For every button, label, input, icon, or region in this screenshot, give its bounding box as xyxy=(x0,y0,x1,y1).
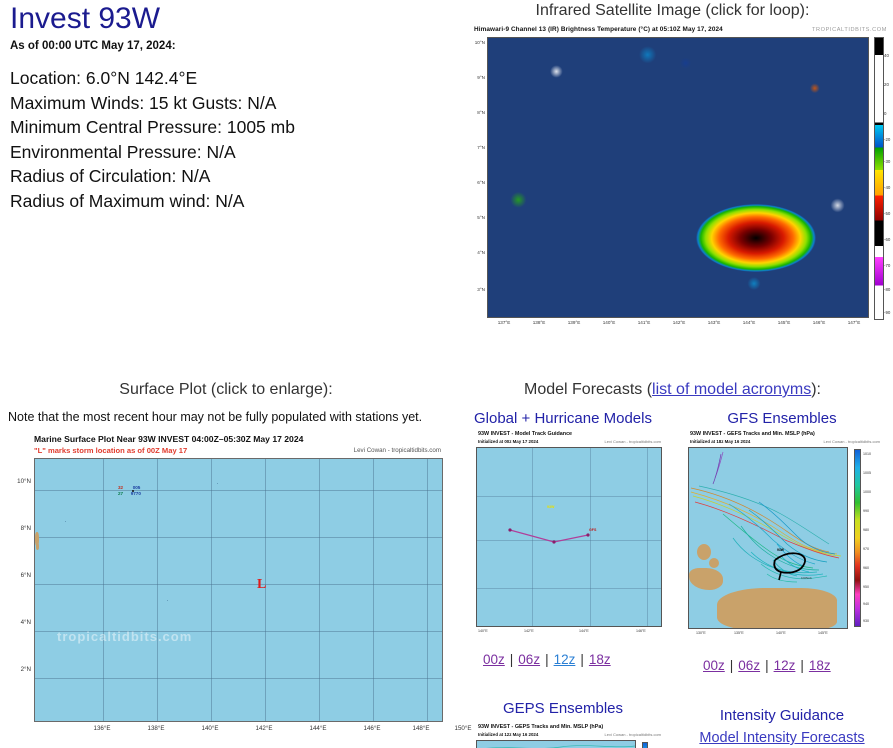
gridline-horizontal xyxy=(35,537,442,538)
track-model-label: 93W xyxy=(547,505,554,509)
colorbar-tick: -70 xyxy=(884,263,890,268)
gefs-colorbar-tick: 950 xyxy=(863,585,869,589)
geps-panel-title: 93W INVEST - GEPS Tracks and Min. MSLP (… xyxy=(478,724,603,730)
surface-y-tick: 8°N xyxy=(8,525,31,532)
gefs-colorbar-tick: 930 xyxy=(863,619,869,623)
gridline-vertical xyxy=(319,459,320,721)
model-acronyms-link[interactable]: list of model acronyms xyxy=(652,381,811,398)
geps-panel-subtitle: Initialized at 12z May 16 2024 xyxy=(478,732,538,737)
fact-env-pressure: Environmental Pressure: N/A xyxy=(10,140,440,165)
satellite-heading: Infrared Satellite Image (click for loop… xyxy=(452,2,893,20)
colorbar-tick: -30 xyxy=(884,159,890,164)
satellite-x-tick: 137°E xyxy=(498,320,511,325)
station-marker xyxy=(65,521,66,522)
gefs-x-tick: 135°E xyxy=(734,631,744,635)
gefs-x-tick: 130°E xyxy=(696,631,706,635)
gefs-tracks-image[interactable]: 93W INVEST - GEFS Tracks and Min. MSLP (… xyxy=(686,430,883,642)
surface-plot-image[interactable]: Marine Surface Plot Near 93W INVEST 04:0… xyxy=(8,432,443,748)
gefs-panel-map: 93W 1005mb xyxy=(688,447,848,629)
station-marker xyxy=(132,490,134,492)
global-hurricane-models-heading: Global + Hurricane Models xyxy=(458,410,668,427)
geps-panel-map xyxy=(476,740,636,748)
storm-facts-list: Location: 6.0°N 142.4°E Maximum Winds: 1… xyxy=(10,66,440,213)
gefs-colorbar-tick: 940 xyxy=(863,602,869,606)
colorbar-tick: -50 xyxy=(884,211,890,216)
geps-ensemble-tracks xyxy=(477,741,636,748)
time-link-06z[interactable]: 06z xyxy=(518,652,540,667)
time-link-00z[interactable]: 00z xyxy=(703,658,725,673)
satellite-x-tick: 139°E xyxy=(568,320,581,325)
satellite-x-tick: 138°E xyxy=(533,320,546,325)
as-of-timestamp: As of 00:00 UTC May 17, 2024: xyxy=(10,40,176,52)
satellite-image-title: Himawari-9 Channel 13 (IR) Brightness Te… xyxy=(474,26,723,33)
station-marker xyxy=(217,483,218,484)
station-pressure: 005 xyxy=(133,485,141,490)
gefs-colorbar-tick: 970 xyxy=(863,547,869,551)
gefs-colorbar-tick: 990 xyxy=(863,509,869,513)
gridline-vertical xyxy=(211,459,212,721)
link-separator: | xyxy=(725,658,739,673)
station-temperature: 32 xyxy=(118,485,123,490)
satellite-x-tick: 143°E xyxy=(708,320,721,325)
track-x-tick: 140°E xyxy=(478,629,488,633)
page-title: Invest 93W xyxy=(10,2,160,36)
satellite-cloud-texture xyxy=(488,38,868,317)
link-separator: | xyxy=(795,658,809,673)
track-panel-title: 93W INVEST - Model Track Guidance xyxy=(478,431,572,437)
geps-ensembles-heading: GEPS Ensembles xyxy=(458,700,668,717)
fact-max-winds: Maximum Winds: 15 kt Gusts: N/A xyxy=(10,91,440,116)
model-forecasts-heading-suffix: ): xyxy=(811,381,821,398)
link-separator: | xyxy=(540,652,554,667)
colorbar-tick: 40 xyxy=(884,53,889,58)
track-gfs-label: GFS xyxy=(589,528,596,532)
geps-colorbar xyxy=(642,742,648,748)
link-separator: | xyxy=(575,652,589,667)
surface-plot-note: Note that the most recent hour may not b… xyxy=(0,410,460,424)
satellite-y-tick: 8°N xyxy=(466,110,485,115)
satellite-y-tick: 9°N xyxy=(466,75,485,80)
track-panel-watermark: Levi Cowan - tropicaltidbits.com xyxy=(605,439,661,444)
time-link-12z[interactable]: 12z xyxy=(774,658,796,673)
satellite-colorbar xyxy=(874,37,884,320)
satellite-y-tick: 3°N xyxy=(466,287,485,292)
gefs-inset-label: 1005mb xyxy=(801,576,812,580)
low-pressure-marker: L xyxy=(257,577,266,593)
satellite-x-tick: 140°E xyxy=(603,320,616,325)
satellite-x-tick: 147°E xyxy=(848,320,861,325)
gefs-panel-watermark: Levi Cowan - tropicaltidbits.com xyxy=(824,439,880,444)
gefs-x-tick: 145°E xyxy=(818,631,828,635)
satellite-x-tick: 145°E xyxy=(778,320,791,325)
time-link-06z[interactable]: 06z xyxy=(738,658,760,673)
colorbar-tick: -60 xyxy=(884,237,890,242)
colorbar-tick: -80 xyxy=(884,287,890,292)
surface-plot-image-subtitle: "L" marks storm location as of 00Z May 1… xyxy=(34,446,187,455)
time-link-18z[interactable]: 18z xyxy=(589,652,611,667)
storm-page: Invest 93W As of 00:00 UTC May 17, 2024:… xyxy=(0,0,893,748)
surface-plot-watermark-large: tropicaltidbits.com xyxy=(57,629,192,644)
surface-plot-watermark: Levi Cowan - tropicaltidbits.com xyxy=(354,447,441,454)
fact-radius-circulation: Radius of Circulation: N/A xyxy=(10,164,440,189)
gefs-colorbar-tick: 1005 xyxy=(863,471,871,475)
satellite-plot-canvas xyxy=(487,37,869,318)
surface-x-tick: 144°E xyxy=(310,725,327,732)
surface-x-tick: 142°E xyxy=(256,725,273,732)
surface-y-tick: 2°N xyxy=(8,666,31,673)
infrared-satellite-image[interactable]: Himawari-9 Channel 13 (IR) Brightness Te… xyxy=(466,25,893,335)
gridline-vertical xyxy=(427,459,428,721)
satellite-y-tick: 6°N xyxy=(466,180,485,185)
fact-location: Location: 6.0°N 142.4°E xyxy=(10,66,440,91)
intensity-link-wrap: Model Intensity Forecasts xyxy=(676,729,888,747)
surface-plot-image-title: Marine Surface Plot Near 93W INVEST 04:0… xyxy=(34,434,303,444)
track-x-tick: 144°E xyxy=(579,629,589,633)
fact-radius-max-wind: Radius of Maximum wind: N/A xyxy=(10,189,440,214)
gefs-colorbar-tick: 960 xyxy=(863,566,869,570)
track-x-tick: 142°E xyxy=(524,629,534,633)
satellite-y-tick: 7°N xyxy=(466,145,485,150)
geps-panel-watermark: Levi Cowan - tropicaltidbits.com xyxy=(605,732,661,737)
gridline-horizontal xyxy=(35,678,442,679)
gefs-colorbar-tick: 1000 xyxy=(863,490,871,494)
time-link-12z[interactable]: 12z xyxy=(554,652,576,667)
gridline-vertical xyxy=(157,459,158,721)
link-separator: | xyxy=(760,658,774,673)
surface-y-tick: 4°N xyxy=(8,619,31,626)
satellite-watermark: TROPICALTIDBITS.COM xyxy=(812,27,887,33)
colorbar-tick: -90 xyxy=(884,310,890,315)
station-plot-lower: 27 9770 xyxy=(118,491,141,496)
model-track-guidance-image[interactable]: 93W INVEST - Model Track Guidance Initia… xyxy=(474,430,664,642)
model-intensity-forecasts-link[interactable]: Model Intensity Forecasts xyxy=(699,730,864,746)
surface-plot-heading: Surface Plot (click to enlarge): xyxy=(0,381,452,399)
satellite-y-tick: 4°N xyxy=(466,250,485,255)
surface-x-tick: 146°E xyxy=(364,725,381,732)
model-forecasts-heading: Model Forecasts (list of model acronyms)… xyxy=(452,381,893,399)
gridline-horizontal xyxy=(35,490,442,491)
satellite-y-tick: 10°N xyxy=(466,40,485,45)
gefs-storm-label: 93W xyxy=(777,548,784,552)
left-column: Invest 93W As of 00:00 UTC May 17, 2024:… xyxy=(0,0,452,748)
track-panel-subtitle: Initialized at 00z May 17 2024 xyxy=(478,439,538,444)
station-plot: 32 005 xyxy=(118,485,140,490)
gfs-ensembles-heading: GFS Ensembles xyxy=(676,410,888,427)
time-link-00z[interactable]: 00z xyxy=(483,652,505,667)
gefs-panel-title: 93W INVEST - GEFS Tracks and Min. MSLP (… xyxy=(690,431,815,437)
gridline-vertical xyxy=(103,459,104,721)
gefs-colorbar xyxy=(854,449,861,627)
track-lines xyxy=(477,448,662,627)
intensity-guidance-heading: Intensity Guidance xyxy=(676,707,888,724)
station-marker xyxy=(167,600,168,601)
gefs-colorbar-tick: 980 xyxy=(863,528,869,532)
gfs-ensembles-time-links: 00z|06z|12z|18z xyxy=(703,658,831,673)
gefs-ensemble-tracks xyxy=(689,448,848,629)
satellite-y-tick: 5°N xyxy=(466,215,485,220)
gridline-horizontal xyxy=(35,584,442,585)
satellite-x-tick: 146°E xyxy=(813,320,826,325)
colorbar-tick: 20 xyxy=(884,82,889,87)
link-separator: | xyxy=(505,652,519,667)
surface-x-tick: 148°E xyxy=(413,725,430,732)
colorbar-tick: 0 xyxy=(884,111,886,116)
gridline-vertical xyxy=(373,459,374,721)
satellite-x-tick: 142°E xyxy=(673,320,686,325)
colorbar-tick: -40 xyxy=(884,185,890,190)
surface-x-tick: 138°E xyxy=(148,725,165,732)
gefs-x-tick: 140°E xyxy=(776,631,786,635)
surface-y-tick: 10°N xyxy=(8,478,31,485)
geps-tracks-image[interactable]: 93W INVEST - GEPS Tracks and Min. MSLP (… xyxy=(474,723,664,748)
colorbar-tick: -20 xyxy=(884,137,890,142)
gefs-panel-subtitle: Initialized at 18z May 16 2024 xyxy=(690,439,750,444)
station-dewpoint: 27 xyxy=(118,491,123,496)
satellite-x-tick: 144°E xyxy=(743,320,756,325)
satellite-x-tick: 141°E xyxy=(638,320,651,325)
land-mass xyxy=(36,543,39,550)
surface-x-tick: 140°E xyxy=(202,725,219,732)
fact-min-pressure: Minimum Central Pressure: 1005 mb xyxy=(10,115,440,140)
track-panel-map: 93W GFS xyxy=(476,447,662,627)
model-forecasts-heading-prefix: Model Forecasts ( xyxy=(524,381,652,398)
surface-y-tick: 6°N xyxy=(8,572,31,579)
surface-x-tick: 136°E xyxy=(94,725,111,732)
surface-plot-canvas: tropicaltidbits.com 32 005 27 9770 L xyxy=(34,458,443,722)
global-models-time-links: 00z|06z|12z|18z xyxy=(483,652,611,667)
gefs-colorbar-tick: 1010 xyxy=(863,452,871,456)
track-x-tick: 146°E xyxy=(636,629,646,633)
time-link-18z[interactable]: 18z xyxy=(809,658,831,673)
